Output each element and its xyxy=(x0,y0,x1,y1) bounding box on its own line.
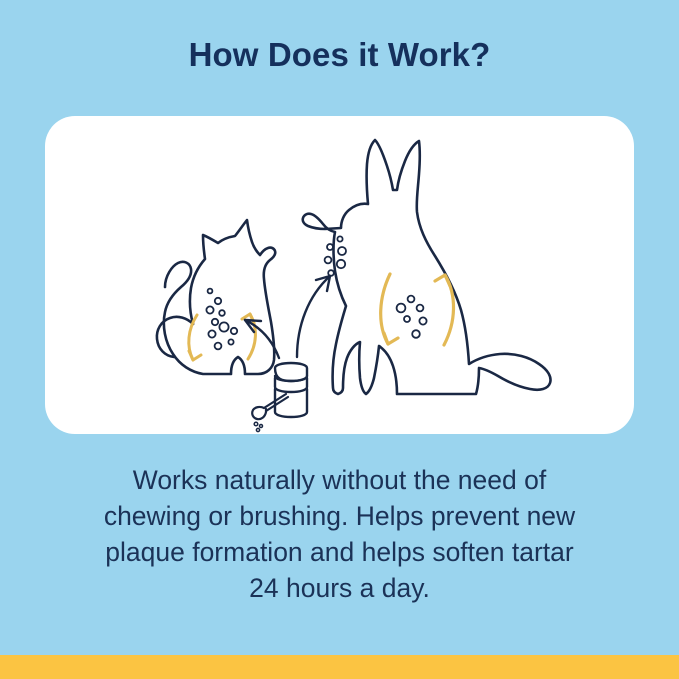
body-line-3: plaque formation and helps soften tartar xyxy=(50,534,629,570)
cat-body-bubbles xyxy=(208,322,237,349)
illustration-card xyxy=(45,116,634,434)
dog-figure xyxy=(303,140,551,394)
arrow-to-dog xyxy=(297,276,330,357)
body-line-2: chewing or brushing. Helps prevent new xyxy=(50,498,629,534)
dog-body-bubbles xyxy=(397,296,427,338)
scoop-powder xyxy=(254,422,262,431)
bottom-accent-band xyxy=(0,655,679,679)
body-copy: Works naturally without the need of chew… xyxy=(50,462,629,606)
cat-figure xyxy=(157,220,275,374)
body-line-1: Works naturally without the need of xyxy=(50,462,629,498)
body-line-4: 24 hours a day. xyxy=(50,570,629,606)
page-root: How Does it Work? xyxy=(0,0,679,679)
how-it-works-illustration xyxy=(45,116,634,434)
cat-mouth-bubbles xyxy=(206,289,224,326)
supplement-jar xyxy=(275,363,307,417)
page-title: How Does it Work? xyxy=(0,34,679,76)
